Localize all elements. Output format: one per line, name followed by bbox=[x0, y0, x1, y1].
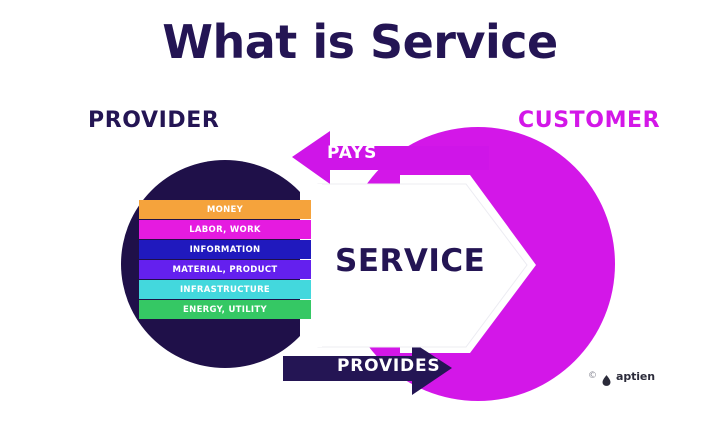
resource-bar-label: MONEY bbox=[207, 205, 243, 215]
resource-bar: MONEY bbox=[139, 200, 311, 219]
resource-bar-label: INFORMATION bbox=[190, 245, 261, 255]
leaf-icon bbox=[602, 371, 611, 382]
brand-footer: © aptien bbox=[588, 371, 655, 382]
resource-bar: MATERIAL, PRODUCT bbox=[139, 260, 311, 279]
resource-bar-label: INFRASTRUCTURE bbox=[180, 285, 270, 295]
provides-arrow-label: PROVIDES bbox=[337, 356, 440, 376]
service-arrow-label: SERVICE bbox=[335, 243, 485, 279]
copyright-symbol: © bbox=[588, 372, 597, 381]
resource-bar-label: ENERGY, UTILITY bbox=[183, 305, 267, 315]
brand-name: aptien bbox=[616, 371, 655, 382]
resource-bar-label: LABOR, WORK bbox=[189, 225, 261, 235]
resource-bar: INFORMATION bbox=[139, 240, 311, 259]
slide-canvas: What is Service PROVIDER CUSTOMER MONEY bbox=[0, 0, 720, 428]
resource-bar: INFRASTRUCTURE bbox=[139, 280, 311, 299]
resource-bar: LABOR, WORK bbox=[139, 220, 311, 239]
resource-bar-stack: MONEY LABOR, WORK INFORMATION MATERIAL, … bbox=[139, 200, 311, 320]
resource-bar: ENERGY, UTILITY bbox=[139, 300, 311, 319]
resource-bar-label: MATERIAL, PRODUCT bbox=[173, 265, 278, 275]
pays-arrow-label: PAYS bbox=[327, 143, 377, 163]
